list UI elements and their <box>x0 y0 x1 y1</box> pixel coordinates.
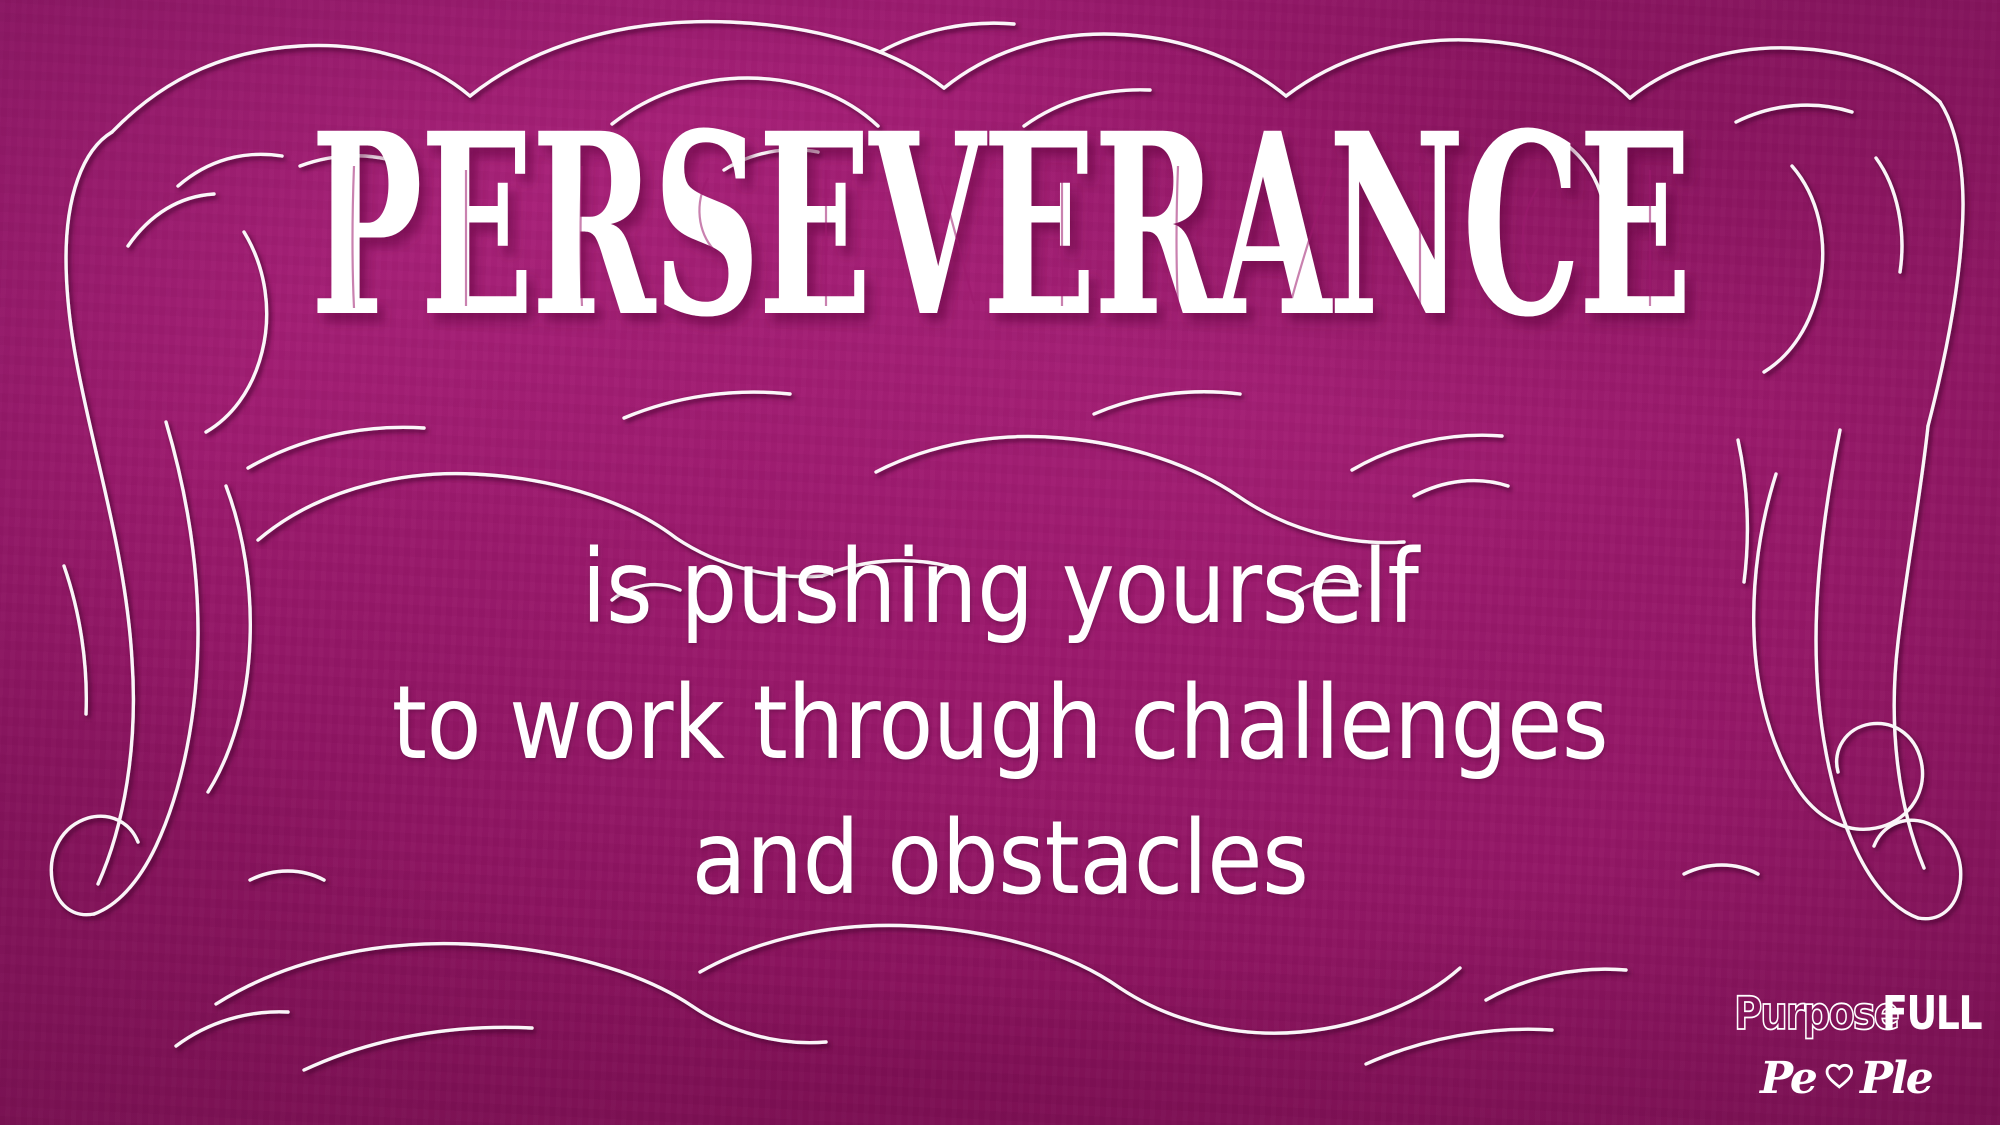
brand-logo: Purpose FULL Pe Ple <box>1730 977 1980 1109</box>
heart-icon <box>1827 1065 1852 1087</box>
brand-logo-mark: Purpose FULL Pe Ple <box>1730 977 1980 1109</box>
logo-word-people-after-heart: Ple <box>1858 1053 1933 1104</box>
page-title-text: PERSEVERANCE <box>310 78 1689 372</box>
logo-word-full: FULL <box>1882 987 1982 1041</box>
logo-word-people-before-heart: Pe <box>1758 1053 1817 1104</box>
title-block: PERSEVERANCE <box>0 108 2000 367</box>
page-title: PERSEVERANCE <box>290 108 1710 363</box>
poster-canvas: PERSEVERANCE is pushing yourself to work… <box>0 0 2000 1125</box>
logo-word-purpose: Purpose <box>1734 987 1898 1040</box>
